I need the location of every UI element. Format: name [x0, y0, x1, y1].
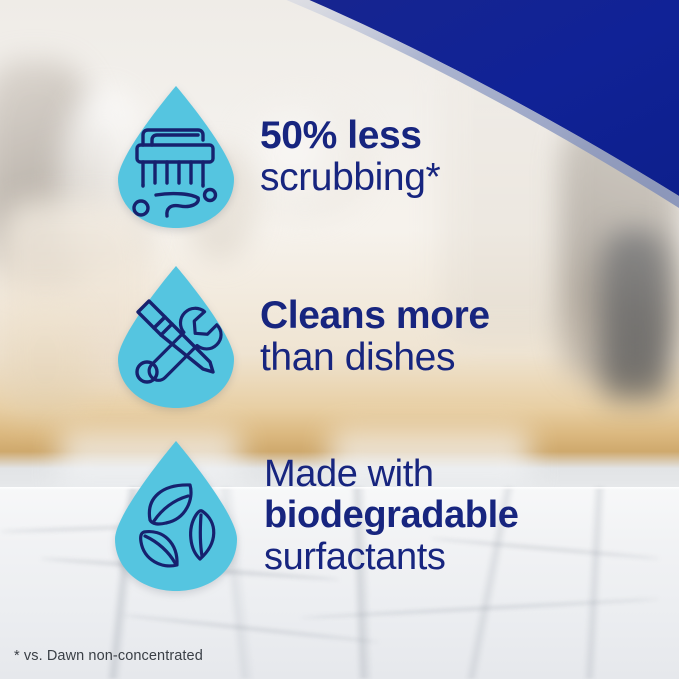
feature-line: 50% less — [260, 115, 440, 157]
feature-line: scrubbing* — [260, 157, 440, 199]
footnote-disclaimer: * vs. Dawn non-concentrated — [14, 648, 203, 664]
feature-line: surfactants — [264, 537, 519, 578]
feature-line: Cleans more — [260, 295, 490, 337]
feature-row-cleans-more: Cleans more than dishes — [112, 262, 490, 412]
feature-text: 50% less scrubbing* — [260, 115, 440, 199]
promo-graphic: 50% less scrubbing* — [0, 0, 679, 679]
feature-row-scrubbing: 50% less scrubbing* — [112, 82, 440, 232]
droplet-badge — [112, 82, 240, 232]
feature-line: than dishes — [260, 337, 490, 379]
feature-line: Made with — [264, 454, 519, 495]
feature-text: Cleans more than dishes — [260, 295, 490, 379]
screwdriver-wrench-icon — [112, 262, 240, 412]
feature-text: Made with biodegradable surfactants — [264, 454, 519, 577]
feature-row-biodegradable: Made with biodegradable surfactants — [108, 437, 519, 595]
feature-line: biodegradable — [264, 495, 519, 536]
recycling-leaves-icon — [108, 437, 244, 595]
droplet-badge — [108, 437, 244, 595]
droplet-badge — [112, 262, 240, 412]
scrub-brush-icon — [112, 82, 240, 232]
feature-list: 50% less scrubbing* — [0, 0, 679, 679]
